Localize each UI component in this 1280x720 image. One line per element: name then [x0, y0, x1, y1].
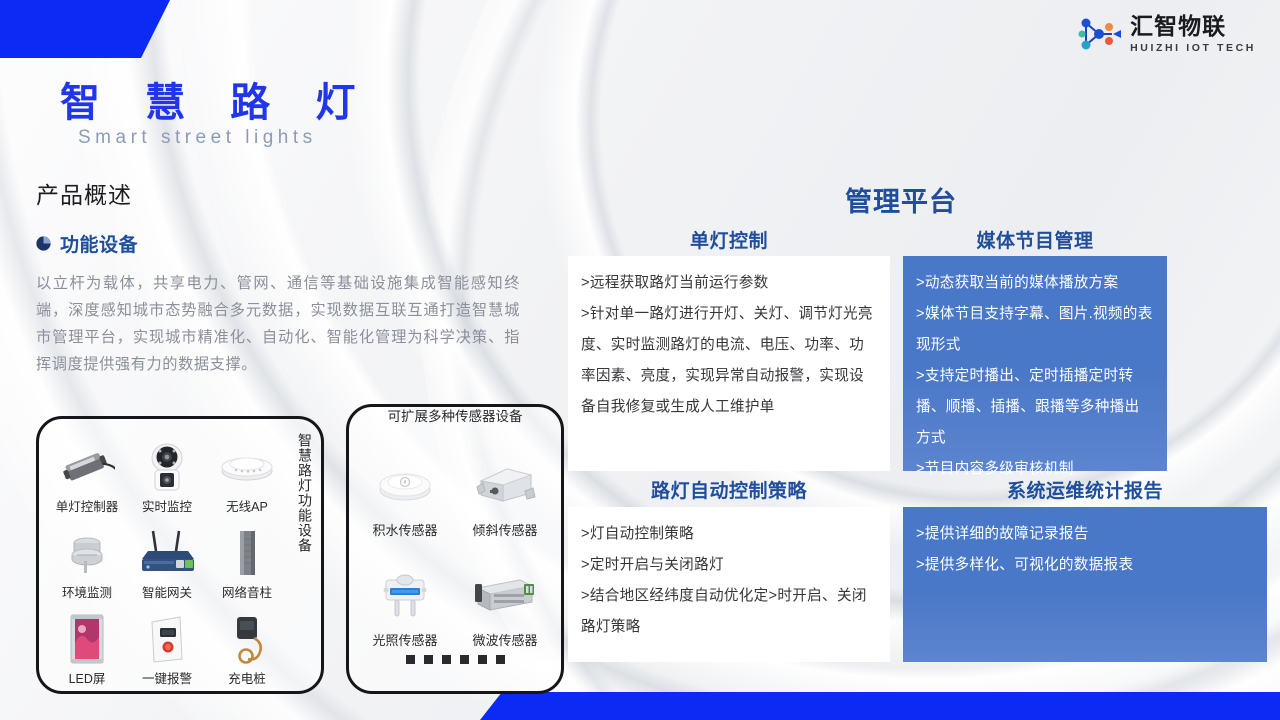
- panel-body-ops-statistics-report: >提供详细的故障记录报告 >提供多样化、可视化的数据报表: [903, 507, 1267, 662]
- device-item: 充电桩: [207, 601, 287, 687]
- panel-line: >针对单一路灯进行开灯、关灯、调节灯光亮度、实时监测路灯的电流、电压、功率、功率…: [581, 299, 877, 423]
- lamp-controller-icon: [59, 440, 115, 494]
- device-item: 无线AP: [207, 429, 287, 515]
- management-platform-title: 管理平台: [845, 180, 957, 219]
- logo-title-cn: 汇智物联: [1130, 15, 1256, 38]
- panel-line: >动态获取当前的媒体播放方案: [916, 268, 1154, 299]
- sensor-label: 倾斜传感器: [472, 520, 537, 539]
- product-overview-paragraph: 以立杆为载体，共享电力、管网、通信等基础设施集成智能感知终端，深度感知城市态势融…: [36, 270, 520, 378]
- subsection-functional-devices: 功能设备: [36, 230, 138, 257]
- device-label: 充电桩: [228, 668, 266, 687]
- panel-heading-auto-control-strategy: 路灯自动控制策略: [568, 476, 890, 503]
- ptz-camera-icon: [145, 440, 189, 494]
- dot: [406, 655, 415, 664]
- dot: [460, 655, 469, 664]
- device-item: 环境监测: [47, 515, 127, 601]
- panel-heading-media-program-management: 媒体节目管理: [903, 226, 1167, 253]
- dot: [424, 655, 433, 664]
- network-molecule-icon: [1076, 14, 1122, 54]
- section-title-product-overview: 产品概述: [36, 176, 132, 210]
- charging-pile-icon: [227, 612, 267, 666]
- device-label: LED屏: [69, 668, 106, 687]
- brand-logo: 汇智物联 HUIZHI IOT TECH: [1076, 14, 1256, 54]
- tilt-sensor-icon: [473, 451, 537, 517]
- sensor-item: 积水传感器: [355, 431, 455, 539]
- device-item: LED屏: [47, 601, 127, 687]
- device-label: 环境监测: [62, 582, 112, 601]
- device-box-vertical-label: 智慧路灯功能设备: [294, 433, 314, 553]
- functional-device-box: 单灯控制器 实: [36, 416, 324, 694]
- expandable-sensor-box: 可扩展多种传感器设备 积水传感器: [346, 404, 564, 694]
- sensor-label: 光照传感器: [372, 630, 437, 649]
- network-speaker-icon: [234, 526, 260, 580]
- panel-line: >支持定时播出、定时插播定时转播、顺播、插播、跟播等多种播出方式: [916, 361, 1154, 454]
- panel-line: >远程获取路灯当前运行参数: [581, 268, 877, 299]
- panel-line: >媒体节目支持字幕、图片.视频的表现形式: [916, 299, 1154, 361]
- slide-canvas: 汇智物联 HUIZHI IOT TECH 智 慧 路 灯 Smart stree…: [0, 0, 1280, 720]
- device-label: 无线AP: [226, 496, 268, 515]
- sensor-item: 光照传感器: [355, 541, 455, 649]
- device-item: 实时监控: [127, 429, 207, 515]
- light-sensor-icon: [374, 561, 436, 627]
- subsection-label: 功能设备: [60, 230, 138, 257]
- emergency-call-icon: [147, 612, 187, 666]
- panel-heading-ops-statistics-report: 系统运维统计报告: [903, 476, 1267, 503]
- panel-body-media-program-management: >动态获取当前的媒体播放方案 >媒体节目支持字幕、图片.视频的表现形式 >支持定…: [903, 256, 1167, 471]
- device-label: 实时监控: [142, 496, 192, 515]
- device-label: 智能网关: [142, 582, 192, 601]
- device-item: 网络音柱: [207, 515, 287, 601]
- page-title: 智 慧 路 灯: [60, 70, 372, 128]
- sensor-item: 倾斜传感器: [455, 431, 555, 539]
- device-item: 单灯控制器: [47, 429, 127, 515]
- device-item: 智能网关: [127, 515, 207, 601]
- wireless-ap-icon: [219, 440, 275, 494]
- dot: [478, 655, 487, 664]
- sensor-label: 微波传感器: [472, 630, 537, 649]
- water-level-sensor-icon: [375, 451, 435, 517]
- panel-line: >灯自动控制策略: [581, 519, 877, 550]
- device-label: 单灯控制器: [56, 496, 119, 515]
- logo-title-en: HUIZHI IOT TECH: [1130, 43, 1256, 54]
- panel-line: >提供多样化、可视化的数据报表: [916, 550, 1254, 581]
- device-label: 网络音柱: [222, 582, 272, 601]
- bottom-accent-bar: [480, 692, 1280, 720]
- dot: [496, 655, 505, 664]
- pie-circle-icon: [36, 236, 51, 251]
- panel-line: >提供详细的故障记录报告: [916, 519, 1254, 550]
- environment-sensor-icon: [63, 526, 111, 580]
- panel-body-single-lamp-control: >远程获取路灯当前运行参数 >针对单一路灯进行开灯、关灯、调节灯光亮度、实时监测…: [568, 256, 890, 471]
- panel-line: >定时开启与关闭路灯: [581, 550, 877, 581]
- microwave-sensor-icon: [472, 561, 538, 627]
- sensor-more-dots: [349, 655, 561, 664]
- led-screen-icon: [68, 612, 106, 666]
- panel-heading-single-lamp-control: 单灯控制: [568, 226, 890, 253]
- page-subtitle: Smart street lights: [78, 127, 317, 149]
- dot: [442, 655, 451, 664]
- panel-line: >结合地区经纬度自动优化定>时开启、关闭路灯策略: [581, 581, 877, 643]
- smart-gateway-icon: [136, 526, 198, 580]
- panel-body-auto-control-strategy: >灯自动控制策略 >定时开启与关闭路灯 >结合地区经纬度自动优化定>时开启、关闭…: [568, 507, 890, 662]
- top-left-accent-shape: [0, 0, 170, 58]
- sensor-label: 积水传感器: [372, 520, 437, 539]
- device-item: 一键报警: [127, 601, 207, 687]
- sensor-item: 微波传感器: [455, 541, 555, 649]
- sensor-box-header: 可扩展多种传感器设备: [349, 405, 561, 425]
- device-label: 一键报警: [142, 668, 192, 687]
